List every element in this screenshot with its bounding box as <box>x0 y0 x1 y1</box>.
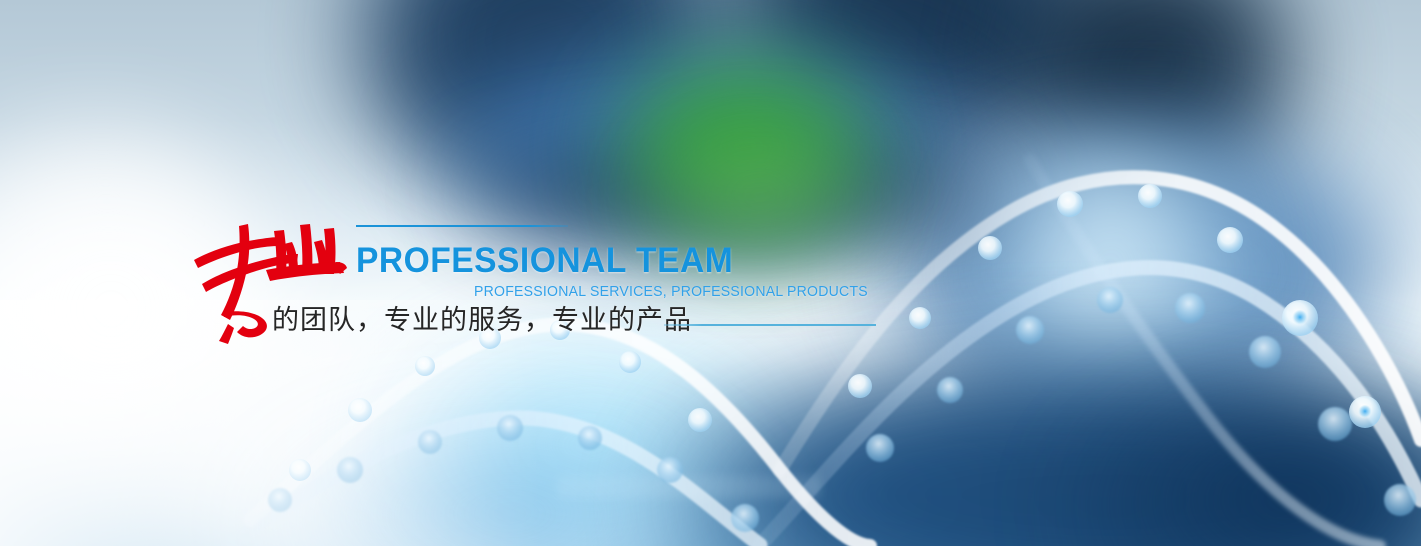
subheadline-services-products: PROFESSIONAL SERVICES, PROFESSIONAL PROD… <box>474 285 868 300</box>
decorative-rule-bottom <box>664 324 876 326</box>
hero-banner: PROFESSIONAL TEAM PROFESSIONAL SERVICES,… <box>0 0 1421 546</box>
banner-content: PROFESSIONAL TEAM PROFESSIONAL SERVICES,… <box>0 0 1421 546</box>
chinese-tagline: 的团队，专业的服务，专业的产品 <box>272 304 692 338</box>
decorative-rule-top <box>356 225 568 227</box>
headline-professional-team: PROFESSIONAL TEAM <box>356 243 733 278</box>
